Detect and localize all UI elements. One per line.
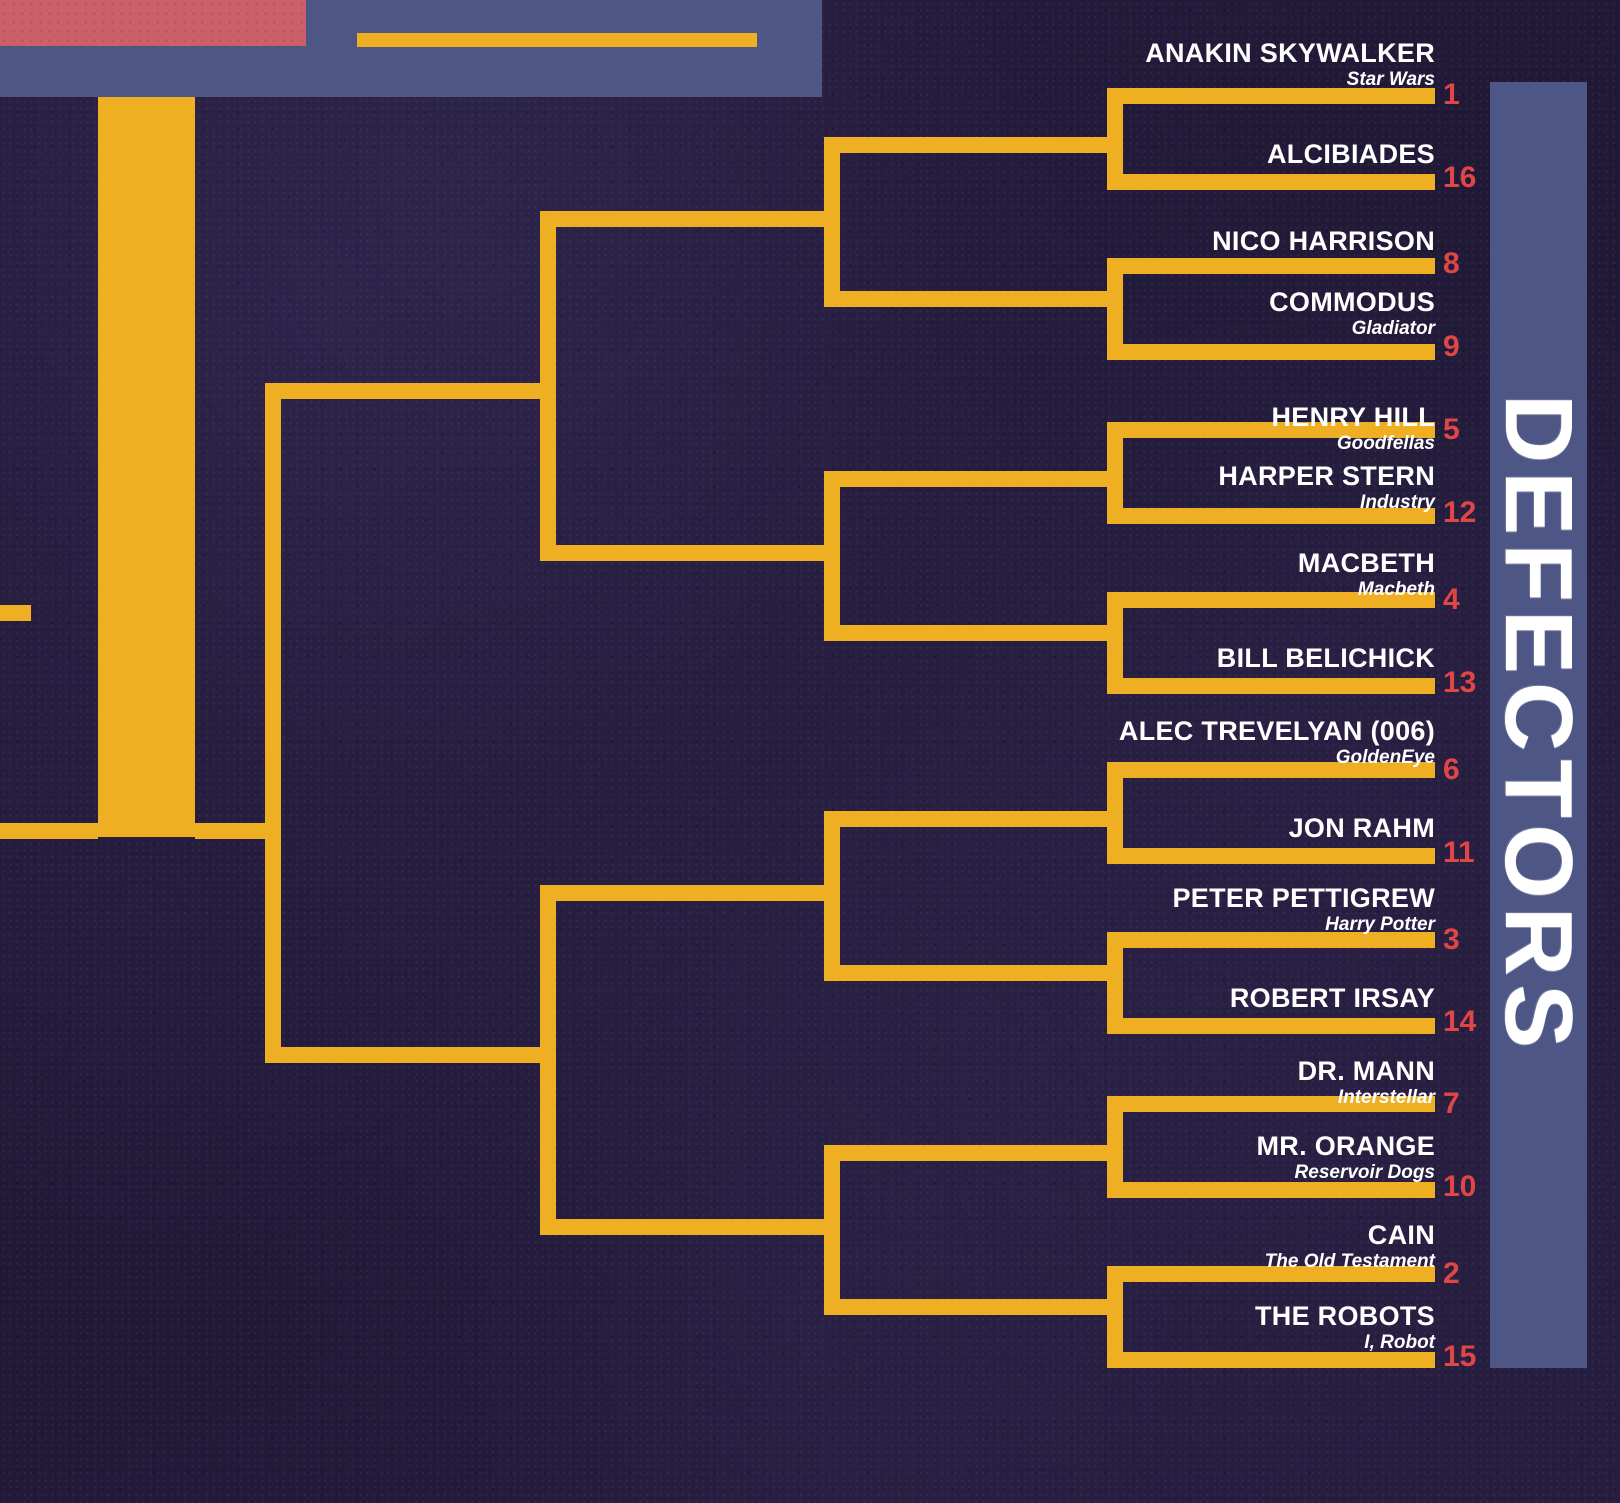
entry-label-11[interactable]: ROBERT IRSAY [1230,985,1435,1015]
entry-seed-15: 15 [1443,1342,1476,1372]
r3-arm-bottom-lower [540,1219,830,1235]
r3-connector-bottom [540,885,556,1235]
entry-label-3[interactable]: COMMODUS Gladiator [1269,289,1435,338]
champion-trunk [98,97,195,837]
entry-source-5: Industry [1218,493,1435,512]
entry-name-13: MR. ORANGE [1257,1133,1436,1160]
entry-seed-2: 8 [1443,249,1460,279]
entry-label-13[interactable]: MR. ORANGE Reservoir Dogs [1257,1133,1436,1182]
entry-seed-6: 4 [1443,585,1460,615]
region-panel: DEFECTORS [1490,82,1587,1368]
entry-name-5: HARPER STERN [1218,463,1435,490]
header-yellow-rule [357,33,757,47]
entry-name-9: JON RAHM [1289,815,1435,842]
r2-connector-1 [824,137,840,307]
entry-label-2[interactable]: NICO HARRISON [1212,228,1435,258]
entry-seed-9: 11 [1443,838,1475,868]
r2-arm-2a [824,471,1114,487]
r4-connector [265,383,281,1063]
entry-name-1: ALCIBIADES [1267,141,1435,168]
entry-source-6: Macbeth [1298,580,1435,599]
entry-name-7: BILL BELICHICK [1217,645,1435,672]
entry-label-5[interactable]: HARPER STERN Industry [1218,463,1435,512]
entry-source-8: GoldenEye [1119,748,1435,767]
entry-seed-1: 16 [1443,163,1476,193]
entry-seed-0: 1 [1443,80,1460,110]
entry-seed-12: 7 [1443,1089,1460,1119]
r1-arm-1-top [1107,88,1435,104]
r1-arm-8-bottom [1107,1352,1435,1368]
r1-arm-7-bottom [1107,1182,1435,1198]
entry-label-1[interactable]: ALCIBIADES [1267,141,1435,171]
r2-arm-3b [824,965,1114,981]
entry-label-14[interactable]: CAIN The Old Testament [1265,1222,1435,1271]
r3-arm-bottom-upper [540,885,830,901]
entry-name-4: HENRY HILL [1271,404,1435,431]
r4-arm-top [265,383,540,399]
entry-name-14: CAIN [1265,1222,1435,1249]
r1-arm-1-bottom [1107,174,1435,190]
entry-seed-8: 6 [1443,755,1460,785]
entry-name-8: ALEC TREVELYAN (006) [1119,718,1435,745]
entry-source-0: Star Wars [1145,70,1435,89]
entry-seed-7: 13 [1443,668,1476,698]
r2-arm-1b [824,291,1114,307]
entry-label-15[interactable]: THE ROBOTS I, Robot [1255,1303,1435,1352]
r2-connector-2 [824,471,840,641]
entry-name-11: ROBERT IRSAY [1230,985,1435,1012]
entry-name-15: THE ROBOTS [1255,1303,1435,1330]
r2-arm-2b [824,625,1114,641]
entry-label-12[interactable]: DR. MANN Interstellar [1298,1058,1435,1107]
r3-arm-top-lower [540,545,830,561]
r2-connector-3 [824,811,840,981]
r1-arm-5-bottom [1107,848,1435,864]
r2-arm-4a [824,1145,1114,1161]
entry-seed-14: 2 [1443,1259,1460,1289]
entry-seed-11: 14 [1443,1007,1476,1037]
entry-name-12: DR. MANN [1298,1058,1435,1085]
entry-label-4[interactable]: HENRY HILL Goodfellas [1271,404,1435,453]
header-red-panel [0,0,306,46]
entry-source-15: I, Robot [1255,1333,1435,1352]
r2-connector-4 [824,1145,840,1315]
bracket-poster: ANAKIN SKYWALKER Star Wars 1 ALCIBIADES … [0,0,1620,1503]
entry-name-3: COMMODUS [1269,289,1435,316]
entry-source-10: Harry Potter [1172,915,1435,934]
entry-seed-3: 9 [1443,332,1460,362]
r2-arm-4b [824,1299,1114,1315]
champion-stub [0,605,31,621]
r3-arm-top-upper [540,211,830,227]
entry-seed-10: 3 [1443,925,1460,955]
r3-connector-top [540,211,556,561]
r4-arm-bottom [265,1047,540,1063]
r4-stem [195,823,265,839]
entry-label-8[interactable]: ALEC TREVELYAN (006) GoldenEye [1119,718,1435,767]
r2-arm-3a [824,811,1114,827]
entry-source-3: Gladiator [1269,319,1435,338]
entry-seed-4: 5 [1443,415,1460,445]
r1-arm-4-bottom [1107,678,1435,694]
entry-name-10: PETER PETTIGREW [1172,885,1435,912]
entry-source-14: The Old Testament [1265,1252,1435,1271]
r2-arm-1a [824,137,1114,153]
entry-label-0[interactable]: ANAKIN SKYWALKER Star Wars [1145,40,1435,89]
entry-label-10[interactable]: PETER PETTIGREW Harry Potter [1172,885,1435,934]
entry-label-6[interactable]: MACBETH Macbeth [1298,550,1435,599]
entry-source-4: Goodfellas [1271,434,1435,453]
entry-name-2: NICO HARRISON [1212,228,1435,255]
entry-name-0: ANAKIN SKYWALKER [1145,40,1435,67]
entry-label-9[interactable]: JON RAHM [1289,815,1435,845]
r1-arm-2-top [1107,258,1435,274]
champion-feed [0,823,98,839]
entry-source-12: Interstellar [1298,1088,1435,1107]
entry-name-6: MACBETH [1298,550,1435,577]
r1-arm-6-bottom [1107,1018,1435,1034]
entry-label-7[interactable]: BILL BELICHICK [1217,645,1435,675]
entry-seed-5: 12 [1443,498,1476,528]
entry-seed-13: 10 [1443,1172,1476,1202]
region-label: DEFECTORS [1484,394,1594,1056]
entry-source-13: Reservoir Dogs [1257,1163,1436,1182]
r1-arm-2-bottom [1107,344,1435,360]
